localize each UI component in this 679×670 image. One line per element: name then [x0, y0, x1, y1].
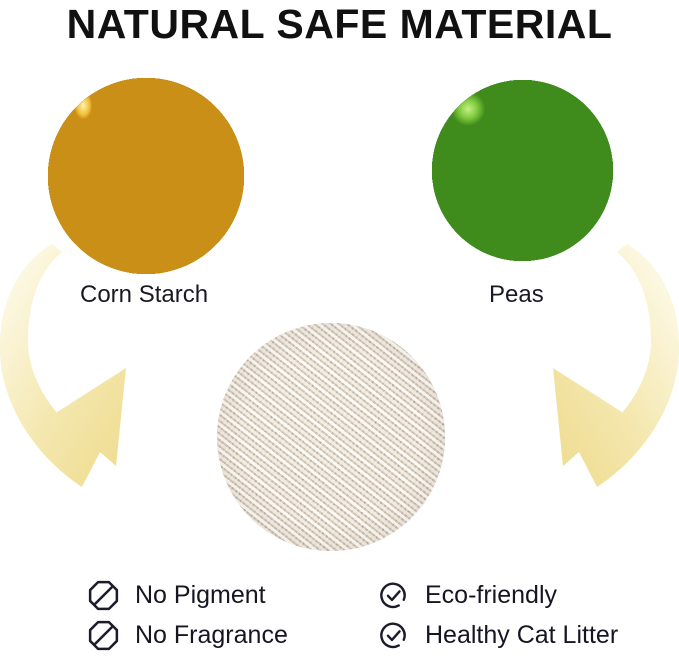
litter-vignette: [217, 323, 445, 551]
check-circle-icon: [378, 580, 409, 611]
ingredient-label-peas: Peas: [489, 281, 544, 309]
feature-label: Healthy Cat Litter: [425, 620, 618, 651]
feature-row: No Fragrance Healthy Cat Litter: [88, 620, 668, 651]
curved-arrow-left: [0, 238, 209, 493]
product-image-cat-litter: [217, 323, 445, 551]
prohibition-octagon-icon: [88, 580, 119, 611]
peas-texture: [432, 80, 613, 261]
feature-item-no-pigment: No Pigment: [88, 580, 378, 611]
check-circle-icon: [378, 620, 409, 651]
feature-label: Eco-friendly: [425, 580, 557, 611]
page-title: NATURAL SAFE MATERIAL: [0, 0, 679, 50]
ingredient-label-corn-starch: Corn Starch: [80, 281, 208, 309]
corn-kernels-texture: [48, 78, 244, 274]
feature-item-no-fragrance: No Fragrance: [88, 620, 378, 651]
feature-item-healthy-cat-litter: Healthy Cat Litter: [378, 620, 618, 651]
feature-label: No Fragrance: [135, 620, 288, 651]
infographic-canvas: NATURAL SAFE MATERIAL: [0, 0, 679, 670]
ingredient-image-peas: [432, 80, 613, 261]
feature-item-eco-friendly: Eco-friendly: [378, 580, 557, 611]
feature-list: No Pigment Eco-friendly No Fragrance: [88, 580, 668, 651]
prohibition-octagon-icon: [88, 620, 119, 651]
ingredient-image-corn-starch: [48, 78, 244, 274]
feature-label: No Pigment: [135, 580, 266, 611]
feature-row: No Pigment Eco-friendly: [88, 580, 668, 611]
curved-arrow-right: [470, 238, 679, 493]
